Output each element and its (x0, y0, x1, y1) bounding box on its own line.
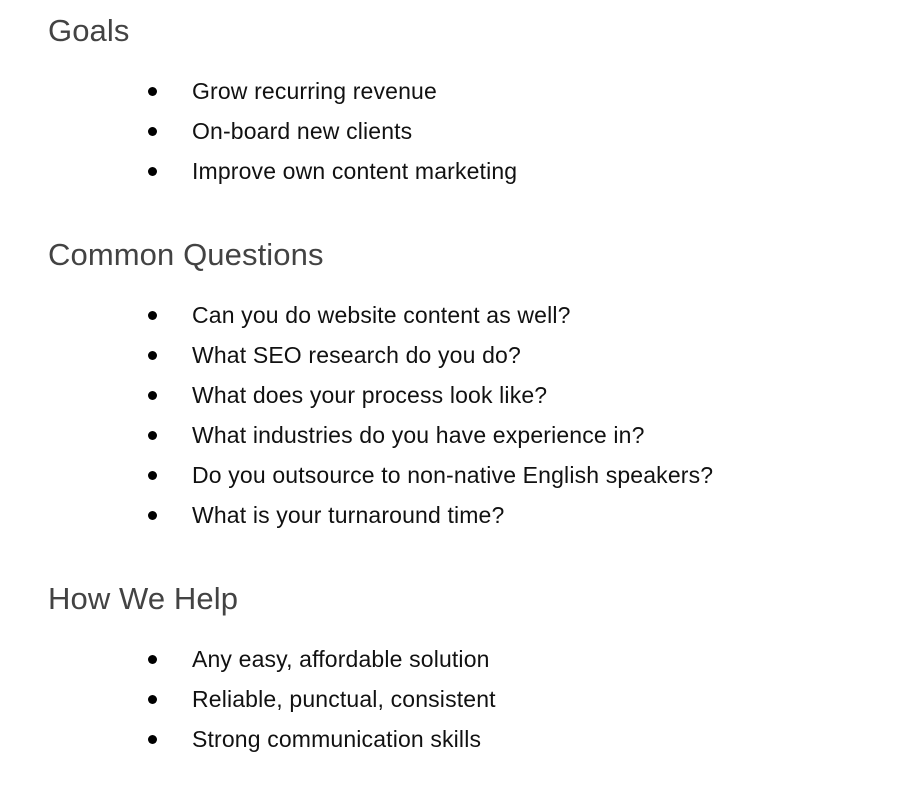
list-item: What SEO research do you do? (48, 335, 713, 375)
bullet-point-icon (148, 127, 157, 136)
list-item: Do you outsource to non-native English s… (48, 455, 713, 495)
list-item: Can you do website content as well? (48, 295, 713, 335)
list-item-label: On-board new clients (192, 118, 412, 144)
list-item: On-board new clients (48, 111, 517, 151)
section-common-questions: Common Questions Can you do website cont… (48, 236, 713, 535)
list-item-label: Any easy, affordable solution (192, 646, 490, 672)
list-item-label: Can you do website content as well? (192, 302, 571, 328)
list-item-label: Improve own content marketing (192, 158, 517, 184)
section-heading-common-questions: Common Questions (48, 236, 713, 274)
bullet-point-icon (148, 735, 157, 744)
bullet-point-icon (148, 351, 157, 360)
bullet-list-goals: Grow recurring revenue On-board new clie… (48, 71, 517, 191)
list-item: Grow recurring revenue (48, 71, 517, 111)
list-item: What industries do you have experience i… (48, 415, 713, 455)
bullet-list-how-we-help: Any easy, affordable solution Reliable, … (48, 639, 496, 759)
bullet-point-icon (148, 87, 157, 96)
bullet-point-icon (148, 311, 157, 320)
list-item: What is your turnaround time? (48, 495, 713, 535)
document-page: Goals Grow recurring revenue On-board ne… (0, 0, 916, 808)
list-item-label: Do you outsource to non-native English s… (192, 462, 713, 488)
list-item-label: What SEO research do you do? (192, 342, 521, 368)
list-item-label: What is your turnaround time? (192, 502, 504, 528)
bullet-point-icon (148, 511, 157, 520)
bullet-point-icon (148, 655, 157, 664)
list-item: Strong communication skills (48, 719, 496, 759)
bullet-point-icon (148, 431, 157, 440)
section-how-we-help: How We Help Any easy, affordable solutio… (48, 580, 496, 759)
list-item-label: Grow recurring revenue (192, 78, 437, 104)
section-heading-how-we-help: How We Help (48, 580, 496, 618)
list-item: Reliable, punctual, consistent (48, 679, 496, 719)
bullet-point-icon (148, 167, 157, 176)
bullet-list-common-questions: Can you do website content as well? What… (48, 295, 713, 535)
list-item: Any easy, affordable solution (48, 639, 496, 679)
section-goals: Goals Grow recurring revenue On-board ne… (48, 12, 517, 191)
list-item-label: What industries do you have experience i… (192, 422, 645, 448)
list-item-label: Reliable, punctual, consistent (192, 686, 496, 712)
list-item-label: What does your process look like? (192, 382, 547, 408)
bullet-point-icon (148, 391, 157, 400)
bullet-point-icon (148, 471, 157, 480)
list-item-label: Strong communication skills (192, 726, 481, 752)
bullet-point-icon (148, 695, 157, 704)
list-item: What does your process look like? (48, 375, 713, 415)
list-item: Improve own content marketing (48, 151, 517, 191)
section-heading-goals: Goals (48, 12, 517, 50)
